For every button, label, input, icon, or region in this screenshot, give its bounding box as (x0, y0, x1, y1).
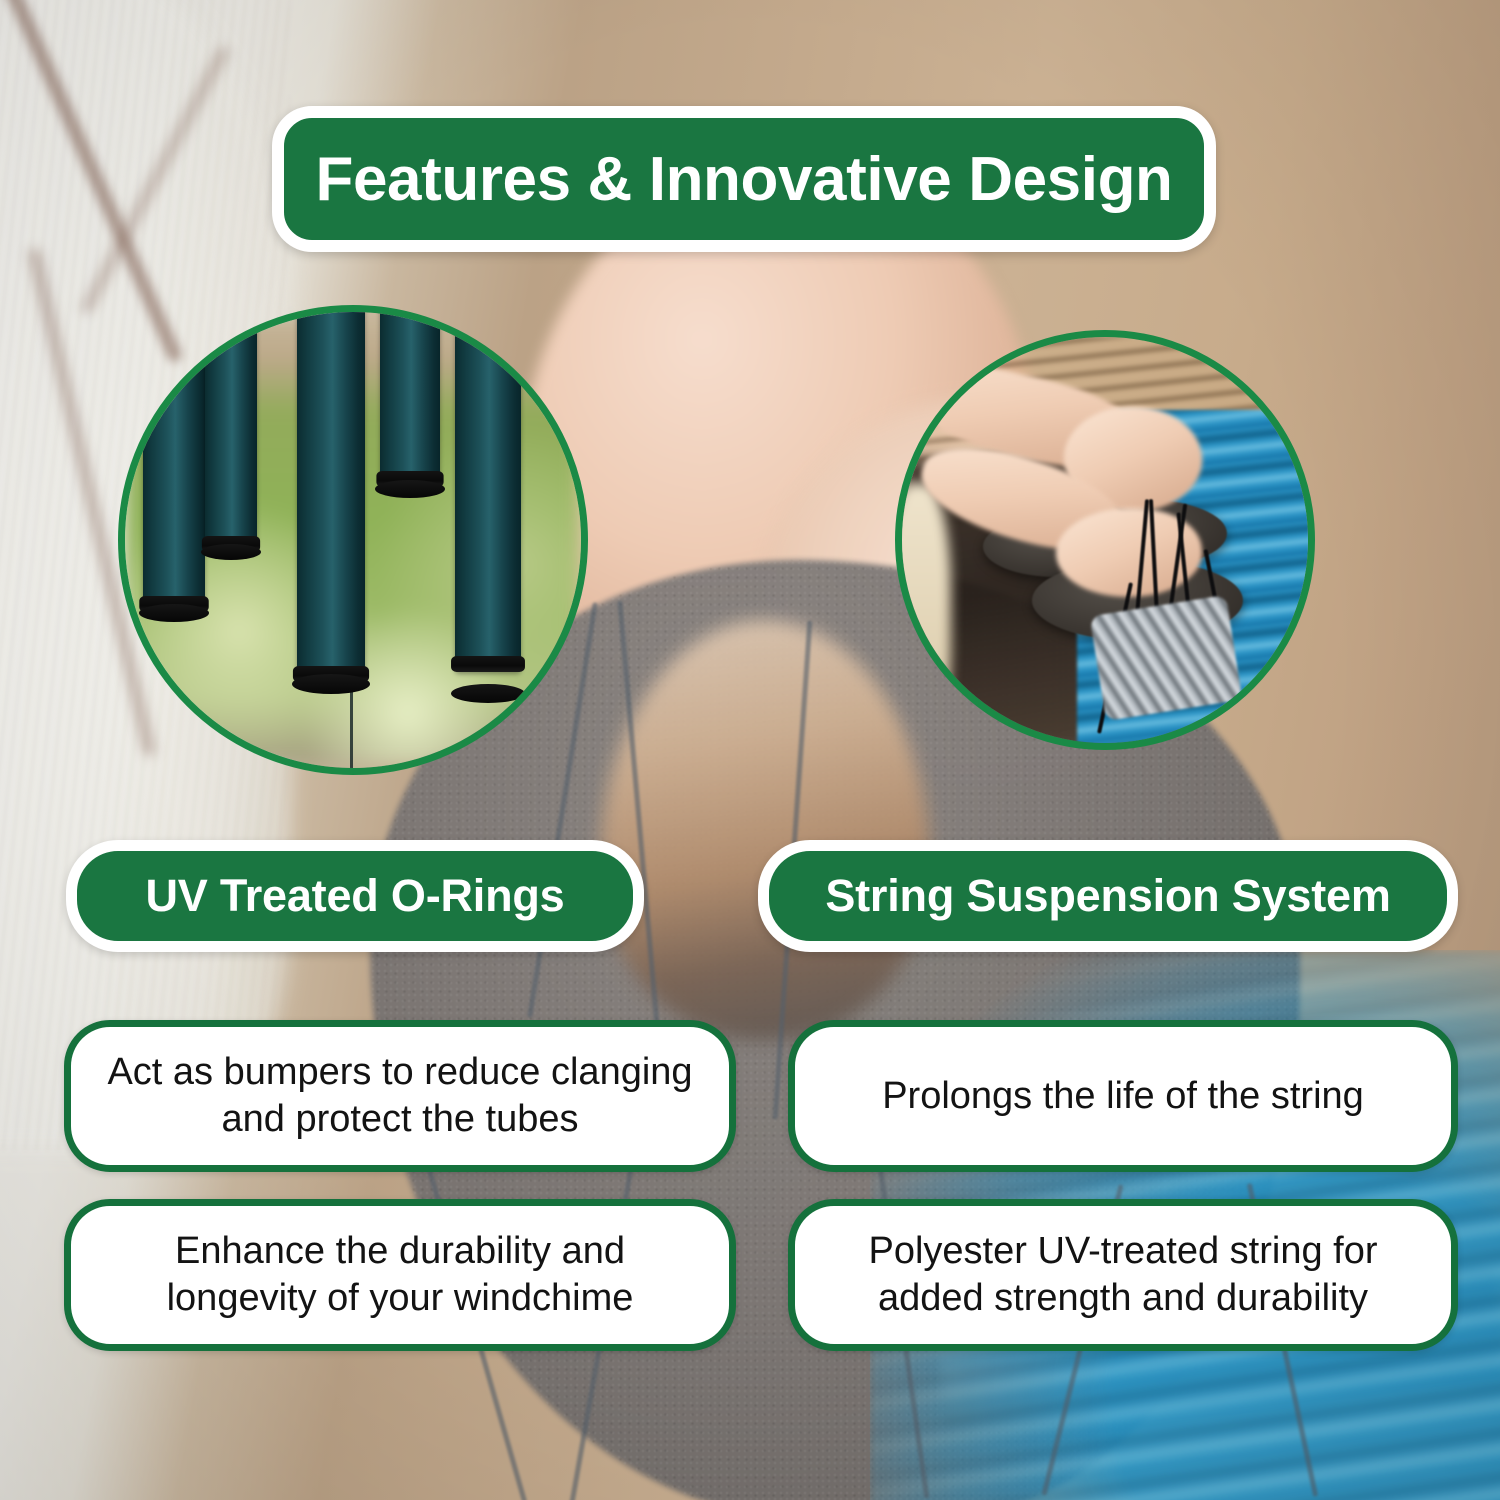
o-ring-bumper (139, 604, 209, 622)
string-suspension-photo (895, 330, 1315, 750)
chime-tube (297, 312, 365, 682)
photo-light-panel (902, 483, 951, 743)
feature-card-text: Polyester UV-treated string for added st… (821, 1228, 1425, 1321)
page-title-badge: Features & Innovative Design (272, 106, 1216, 252)
section-heading-string-suspension: String Suspension System (758, 840, 1458, 952)
section-heading-o-rings: UV Treated O-Rings (66, 840, 644, 952)
chime-hanging-string (350, 692, 353, 768)
o-ring-bumper (375, 480, 445, 498)
product-feature-infographic: Features & Innovative Design (0, 0, 1500, 1500)
chime-tube (455, 312, 521, 672)
section-heading-label: UV Treated O-Rings (146, 870, 565, 922)
feature-card-text: Prolongs the life of the string (882, 1073, 1364, 1120)
feature-card-text: Enhance the durability and longevity of … (97, 1228, 703, 1321)
wind-chime-tubes-photo (118, 305, 588, 775)
o-ring-bumper (451, 684, 525, 703)
section-heading-label: String Suspension System (825, 870, 1390, 922)
page-title: Features & Innovative Design (315, 144, 1172, 215)
chime-tube (380, 312, 440, 487)
o-ring-bumper (292, 674, 370, 694)
feature-card-text: Act as bumpers to reduce clanging and pr… (97, 1049, 703, 1142)
o-ring-bumper (201, 544, 261, 560)
feature-card: Enhance the durability and longevity of … (64, 1199, 736, 1351)
chime-tube (205, 312, 257, 552)
chime-tube-rings (1089, 595, 1242, 721)
feature-card: Act as bumpers to reduce clanging and pr… (64, 1020, 736, 1172)
chime-tube (143, 312, 205, 612)
feature-card: Polyester UV-treated string for added st… (788, 1199, 1458, 1351)
feature-card: Prolongs the life of the string (788, 1020, 1458, 1172)
